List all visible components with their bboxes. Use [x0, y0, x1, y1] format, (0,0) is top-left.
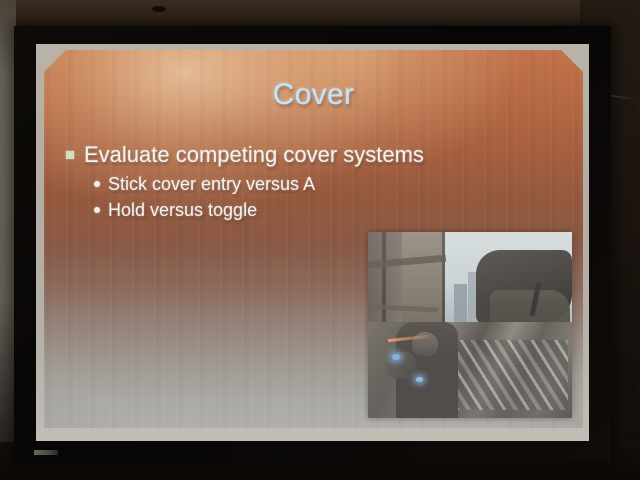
- bullet-text: Hold versus toggle: [108, 200, 257, 221]
- round-bullet-icon: [94, 181, 100, 187]
- projected-slide-photo: Cover Evaluate competing cover systems S…: [0, 0, 640, 480]
- screen-brand-label: [34, 450, 58, 455]
- embedded-game-screenshot: [368, 232, 572, 418]
- armor-glow-light: [392, 354, 400, 360]
- bullet-item-level1: Evaluate competing cover systems: [66, 142, 566, 168]
- slide-title: Cover: [44, 78, 583, 112]
- player-character-shoulder: [386, 352, 416, 378]
- rubble-highlights: [456, 340, 568, 410]
- slide-bullet-list: Evaluate competing cover systems Stick c…: [66, 142, 566, 221]
- bullet-item-level2: Hold versus toggle: [94, 200, 566, 221]
- armor-glow-light: [416, 377, 423, 382]
- presentation-slide: Cover Evaluate competing cover systems S…: [44, 50, 583, 428]
- bullet-text: Evaluate competing cover systems: [84, 142, 424, 168]
- bullet-item-level2: Stick cover entry versus A: [94, 174, 566, 195]
- ceiling-mount-fixture: [152, 6, 166, 12]
- game-scene: [368, 232, 572, 418]
- bullet-text: Stick cover entry versus A: [108, 174, 315, 195]
- round-bullet-icon: [94, 207, 100, 213]
- square-bullet-icon: [66, 151, 74, 159]
